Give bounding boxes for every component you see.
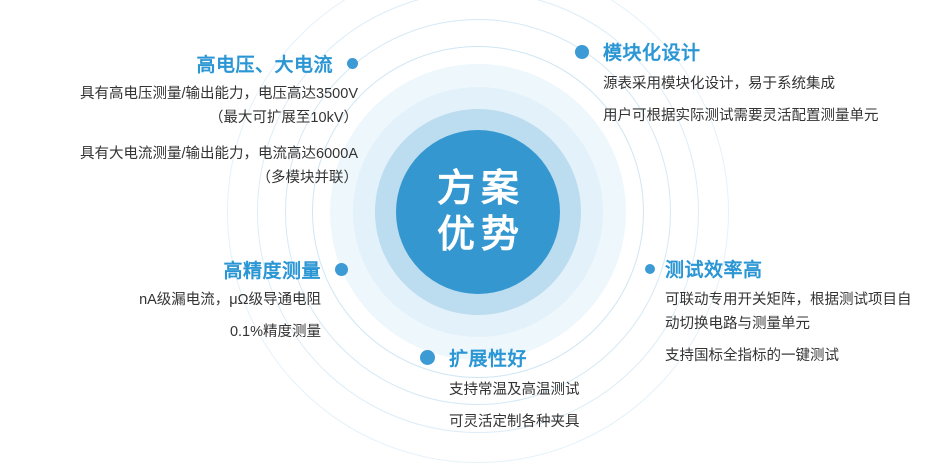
feature-scalability-body: 支持常温及高温测试 可灵活定制各种夹具 xyxy=(420,379,580,435)
feature-modular-design-body: 源表采用模块化设计，易于系统集成 用户可根据实际测试需要灵活配置测量单元 xyxy=(575,73,879,129)
bullet-dot-icon xyxy=(645,264,655,274)
bullet-dot-icon xyxy=(335,263,348,276)
center-badge-line-1: 方案 xyxy=(431,166,525,212)
feature-scalability-title: 扩展性好 xyxy=(449,344,527,371)
feature-high-accuracy-body: nA级漏电流，μΩ级导通电阻 0.1%精度测量 xyxy=(139,289,348,345)
feature-high-accuracy-header: 高精度测量 xyxy=(139,256,348,283)
feature-line: 可联动专用开关矩阵，根据测试项目自 xyxy=(665,289,912,313)
feature-test-efficiency-title: 测试效率高 xyxy=(665,255,763,282)
feature-line: 支持常温及高温测试 xyxy=(420,379,580,403)
center-badge-line-2: 优势 xyxy=(431,212,525,258)
feature-scalability[interactable]: 扩展性好 支持常温及高温测试 可灵活定制各种夹具 xyxy=(420,344,580,435)
feature-high-accuracy[interactable]: 高精度测量 nA级漏电流，μΩ级导通电阻 0.1%精度测量 xyxy=(139,256,348,345)
feature-line: 0.1%精度测量 xyxy=(139,321,321,345)
solution-advantages-infographic: 方案 优势 高电压、大电流 具有高电压测量/输出能力，电压高达3500V （最大… xyxy=(0,0,948,467)
feature-high-voltage[interactable]: 高电压、大电流 具有高电压测量/输出能力，电压高达3500V （最大可扩展至10… xyxy=(80,50,358,191)
feature-line: （多模块并联） xyxy=(80,167,358,191)
feature-high-voltage-body: 具有高电压测量/输出能力，电压高达3500V （最大可扩展至10kV） 具有大电… xyxy=(80,83,358,191)
bullet-dot-icon xyxy=(420,350,435,365)
feature-line: （最大可扩展至10kV） xyxy=(80,107,358,131)
feature-line: 支持国标全指标的一键测试 xyxy=(665,345,912,369)
feature-high-voltage-title: 高电压、大电流 xyxy=(196,50,333,77)
feature-line: 具有大电流测量/输出能力，电流高达6000A xyxy=(80,143,358,167)
feature-test-efficiency-header: 测试效率高 xyxy=(645,255,912,282)
bullet-dot-icon xyxy=(347,58,358,69)
feature-test-efficiency-body: 可联动专用开关矩阵，根据测试项目自 动切换电路与测量单元 支持国标全指标的一键测… xyxy=(645,289,912,369)
bullet-dot-icon xyxy=(575,45,589,59)
feature-line: nA级漏电流，μΩ级导通电阻 xyxy=(139,289,321,313)
feature-line: 具有高电压测量/输出能力，电压高达3500V xyxy=(80,83,358,107)
center-badge: 方案 优势 xyxy=(396,130,560,294)
feature-test-efficiency[interactable]: 测试效率高 可联动专用开关矩阵，根据测试项目自 动切换电路与测量单元 支持国标全… xyxy=(645,255,912,369)
feature-line: 动切换电路与测量单元 xyxy=(665,313,912,337)
feature-line: 用户可根据实际测试需要灵活配置测量单元 xyxy=(603,105,879,129)
feature-modular-design[interactable]: 模块化设计 源表采用模块化设计，易于系统集成 用户可根据实际测试需要灵活配置测量… xyxy=(575,38,879,129)
feature-high-voltage-header: 高电压、大电流 xyxy=(80,50,358,77)
feature-line: 可灵活定制各种夹具 xyxy=(420,411,580,435)
feature-high-accuracy-title: 高精度测量 xyxy=(223,256,321,283)
feature-line: 源表采用模块化设计，易于系统集成 xyxy=(603,73,879,97)
feature-modular-design-header: 模块化设计 xyxy=(575,38,879,65)
feature-modular-design-title: 模块化设计 xyxy=(603,38,701,65)
feature-scalability-header: 扩展性好 xyxy=(420,344,580,371)
